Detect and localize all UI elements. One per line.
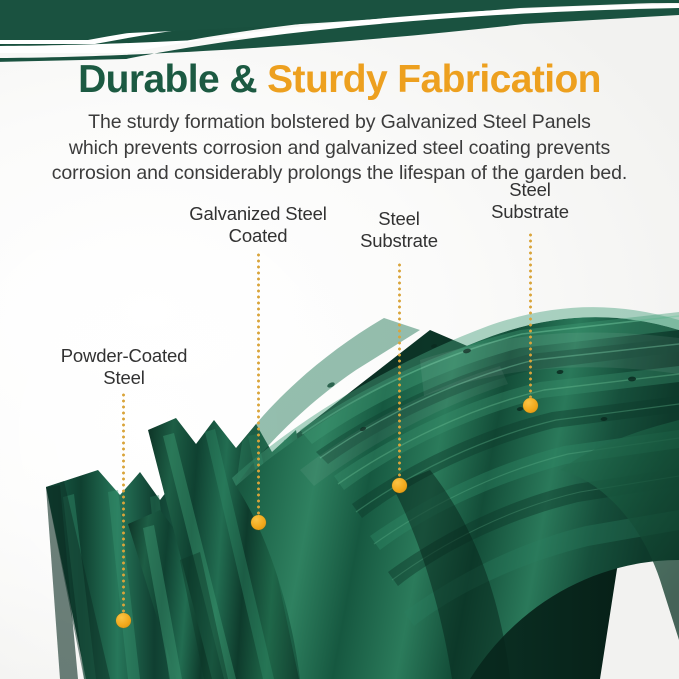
callout-label-galvanized-steel-coated: Galvanized Steel Coated bbox=[168, 203, 348, 247]
subtitle-line-1: The sturdy formation bolstered by Galvan… bbox=[14, 110, 665, 136]
page-subtitle: The sturdy formation bolstered by Galvan… bbox=[14, 110, 665, 187]
page-title-part-green: Durable & bbox=[78, 58, 257, 101]
top-banner bbox=[0, 0, 679, 62]
callout-marker-steel-substrate-right bbox=[523, 398, 538, 413]
subtitle-line-2: which prevents corrosion and galvanized … bbox=[14, 136, 665, 162]
callout-leader-steel-substrate-right bbox=[529, 232, 532, 403]
callout-marker-galvanized-steel-coated bbox=[251, 515, 266, 530]
callout-leader-galvanized-steel-coated bbox=[257, 252, 260, 520]
page-title-part-amber: Sturdy Fabrication bbox=[257, 58, 601, 101]
callout-label-powder-coated-steel: Powder-Coated Steel bbox=[38, 345, 210, 389]
callout-label-steel-substrate-right: Steel Substrate bbox=[472, 179, 588, 223]
callout-leader-powder-coated-steel bbox=[122, 392, 125, 618]
banner-swoosh-shape bbox=[0, 0, 679, 62]
callout-marker-powder-coated-steel bbox=[116, 613, 131, 628]
infographic-canvas: Durable & Sturdy Fabrication The sturdy … bbox=[0, 0, 679, 679]
callout-label-steel-substrate-center: Steel Substrate bbox=[341, 208, 457, 252]
page-title: Durable & Sturdy Fabrication bbox=[0, 57, 679, 103]
callout-marker-steel-substrate-center bbox=[392, 478, 407, 493]
callout-leader-steel-substrate-center bbox=[398, 262, 401, 483]
